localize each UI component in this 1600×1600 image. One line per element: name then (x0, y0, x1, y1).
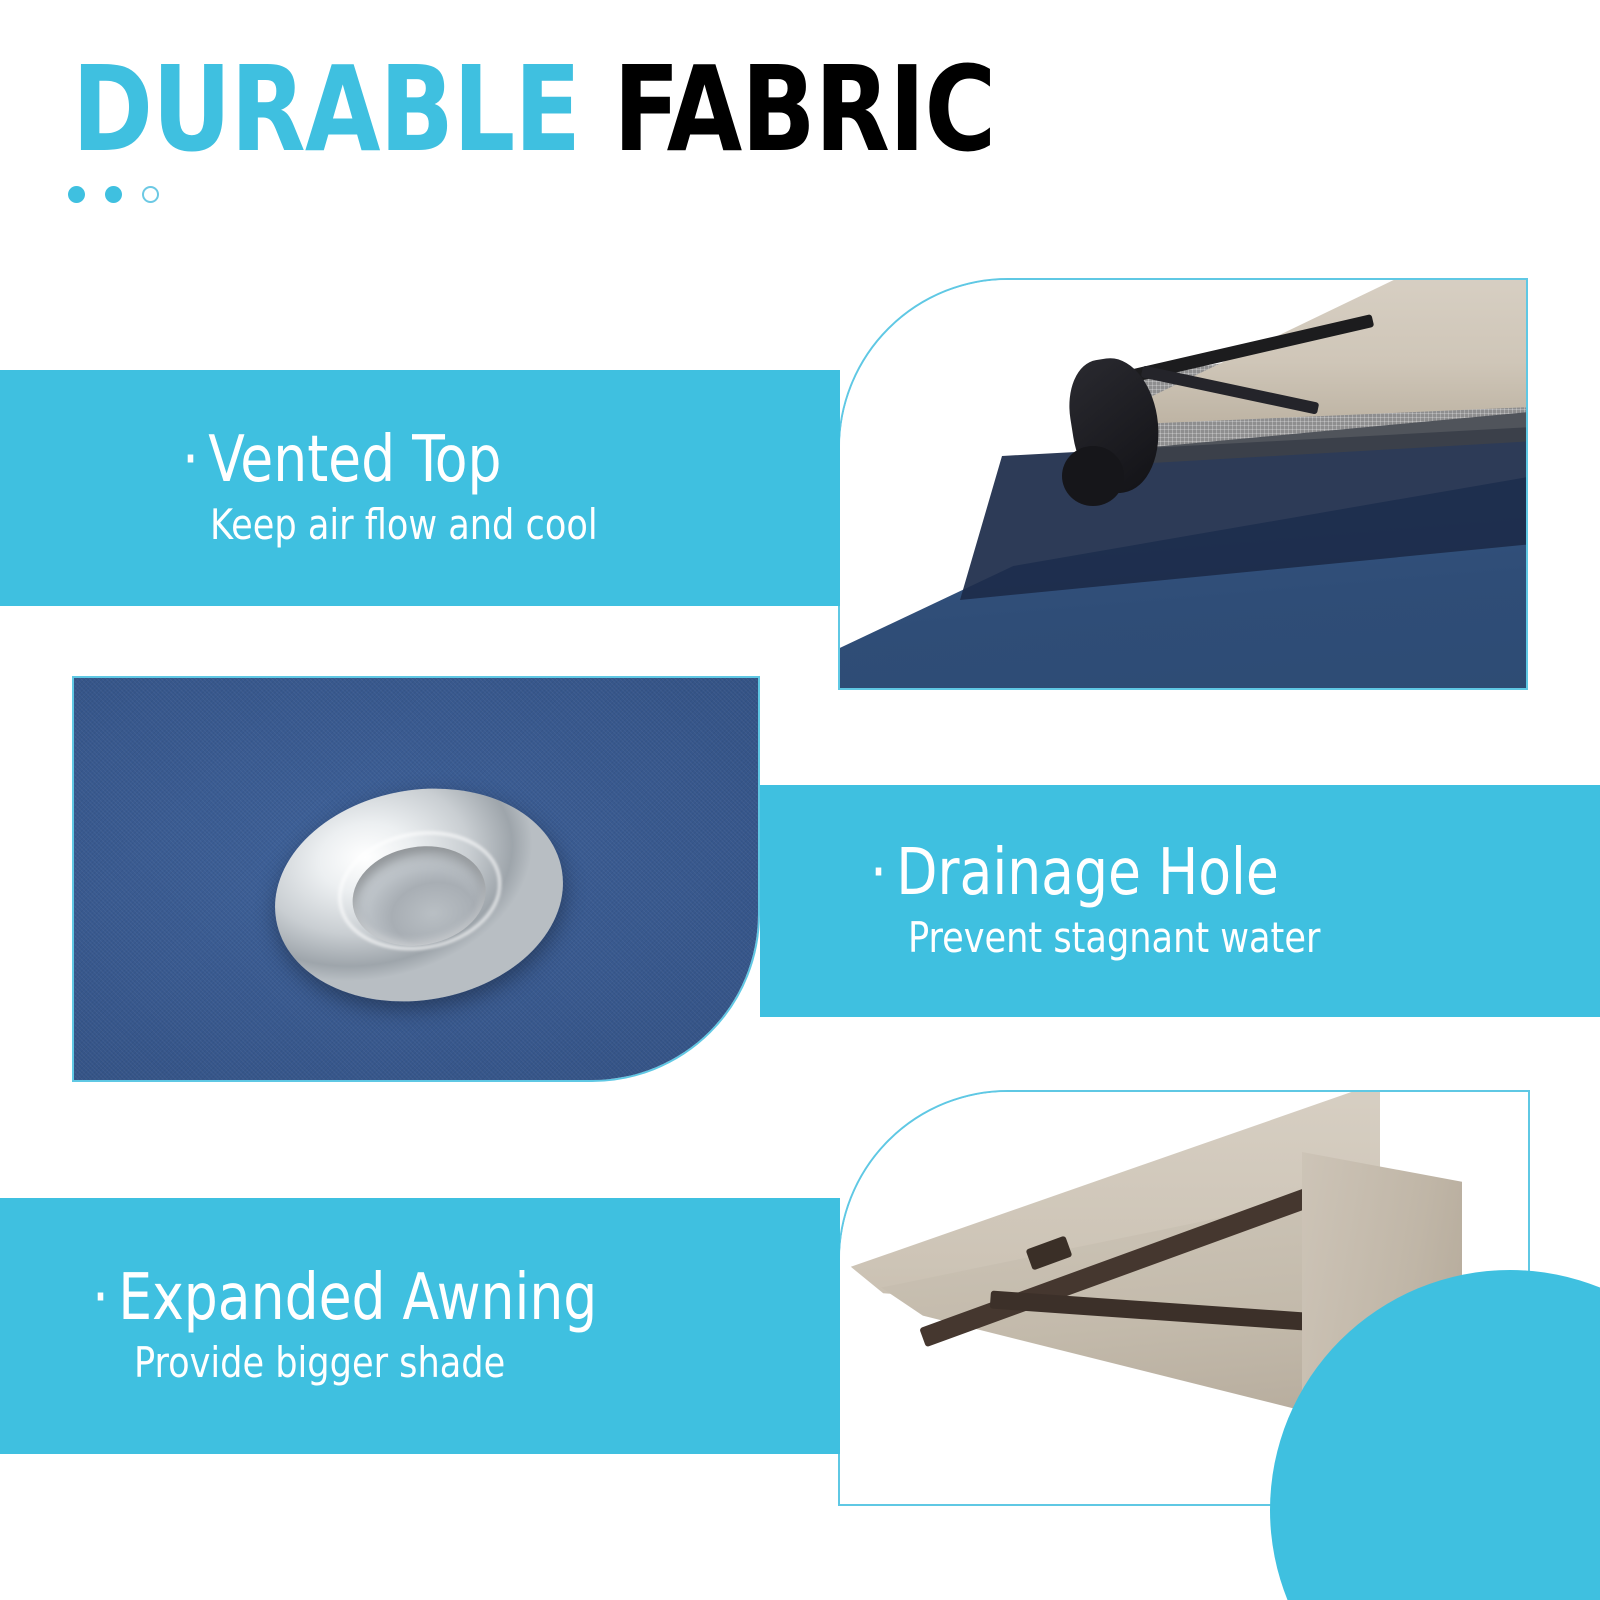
feature-title-expanded-awning: ·Expanded Awning (92, 1265, 597, 1332)
bullet-icon: · (92, 1265, 109, 1332)
page-title-dark: FABRIC (580, 40, 995, 178)
pager-dots (68, 186, 159, 203)
pager-dot-3-icon (142, 186, 159, 203)
pager-dot-2-icon (105, 186, 122, 203)
page-title-accent: DURABLE (72, 40, 580, 178)
feature-photo-drainage-hole (72, 676, 760, 1082)
vent-corner-tip (1062, 446, 1124, 506)
feature-band-vented-top: ·Vented Top Keep air flow and cool (0, 370, 840, 606)
bullet-icon: · (182, 427, 199, 494)
feature-title-text: Expanded Awning (118, 1261, 597, 1335)
feature-title-text: Drainage Hole (896, 836, 1279, 910)
feature-photo-vented-top (838, 278, 1528, 690)
page-title: DURABLE FABRIC (72, 48, 995, 172)
feature-title-vented-top: ·Vented Top (182, 427, 501, 494)
feature-band-expanded-awning: ·Expanded Awning Provide bigger shade (0, 1198, 840, 1454)
feature-title-drainage-hole: ·Drainage Hole (870, 840, 1279, 907)
corner-arc-shape (1270, 1270, 1600, 1600)
pager-dot-1-icon (68, 186, 85, 203)
bullet-icon: · (870, 840, 887, 907)
corner-decoration (1270, 1270, 1600, 1600)
feature-band-drainage-hole: ·Drainage Hole Prevent stagnant water (760, 785, 1600, 1017)
feature-subtitle-drainage-hole: Prevent stagnant water (908, 914, 1320, 962)
infographic-page: DURABLE FABRIC ·Vented Top Keep air flow… (0, 0, 1600, 1600)
feature-subtitle-expanded-awning: Provide bigger shade (134, 1339, 505, 1387)
feature-subtitle-vented-top: Keep air flow and cool (210, 501, 598, 549)
feature-title-text: Vented Top (208, 423, 501, 497)
